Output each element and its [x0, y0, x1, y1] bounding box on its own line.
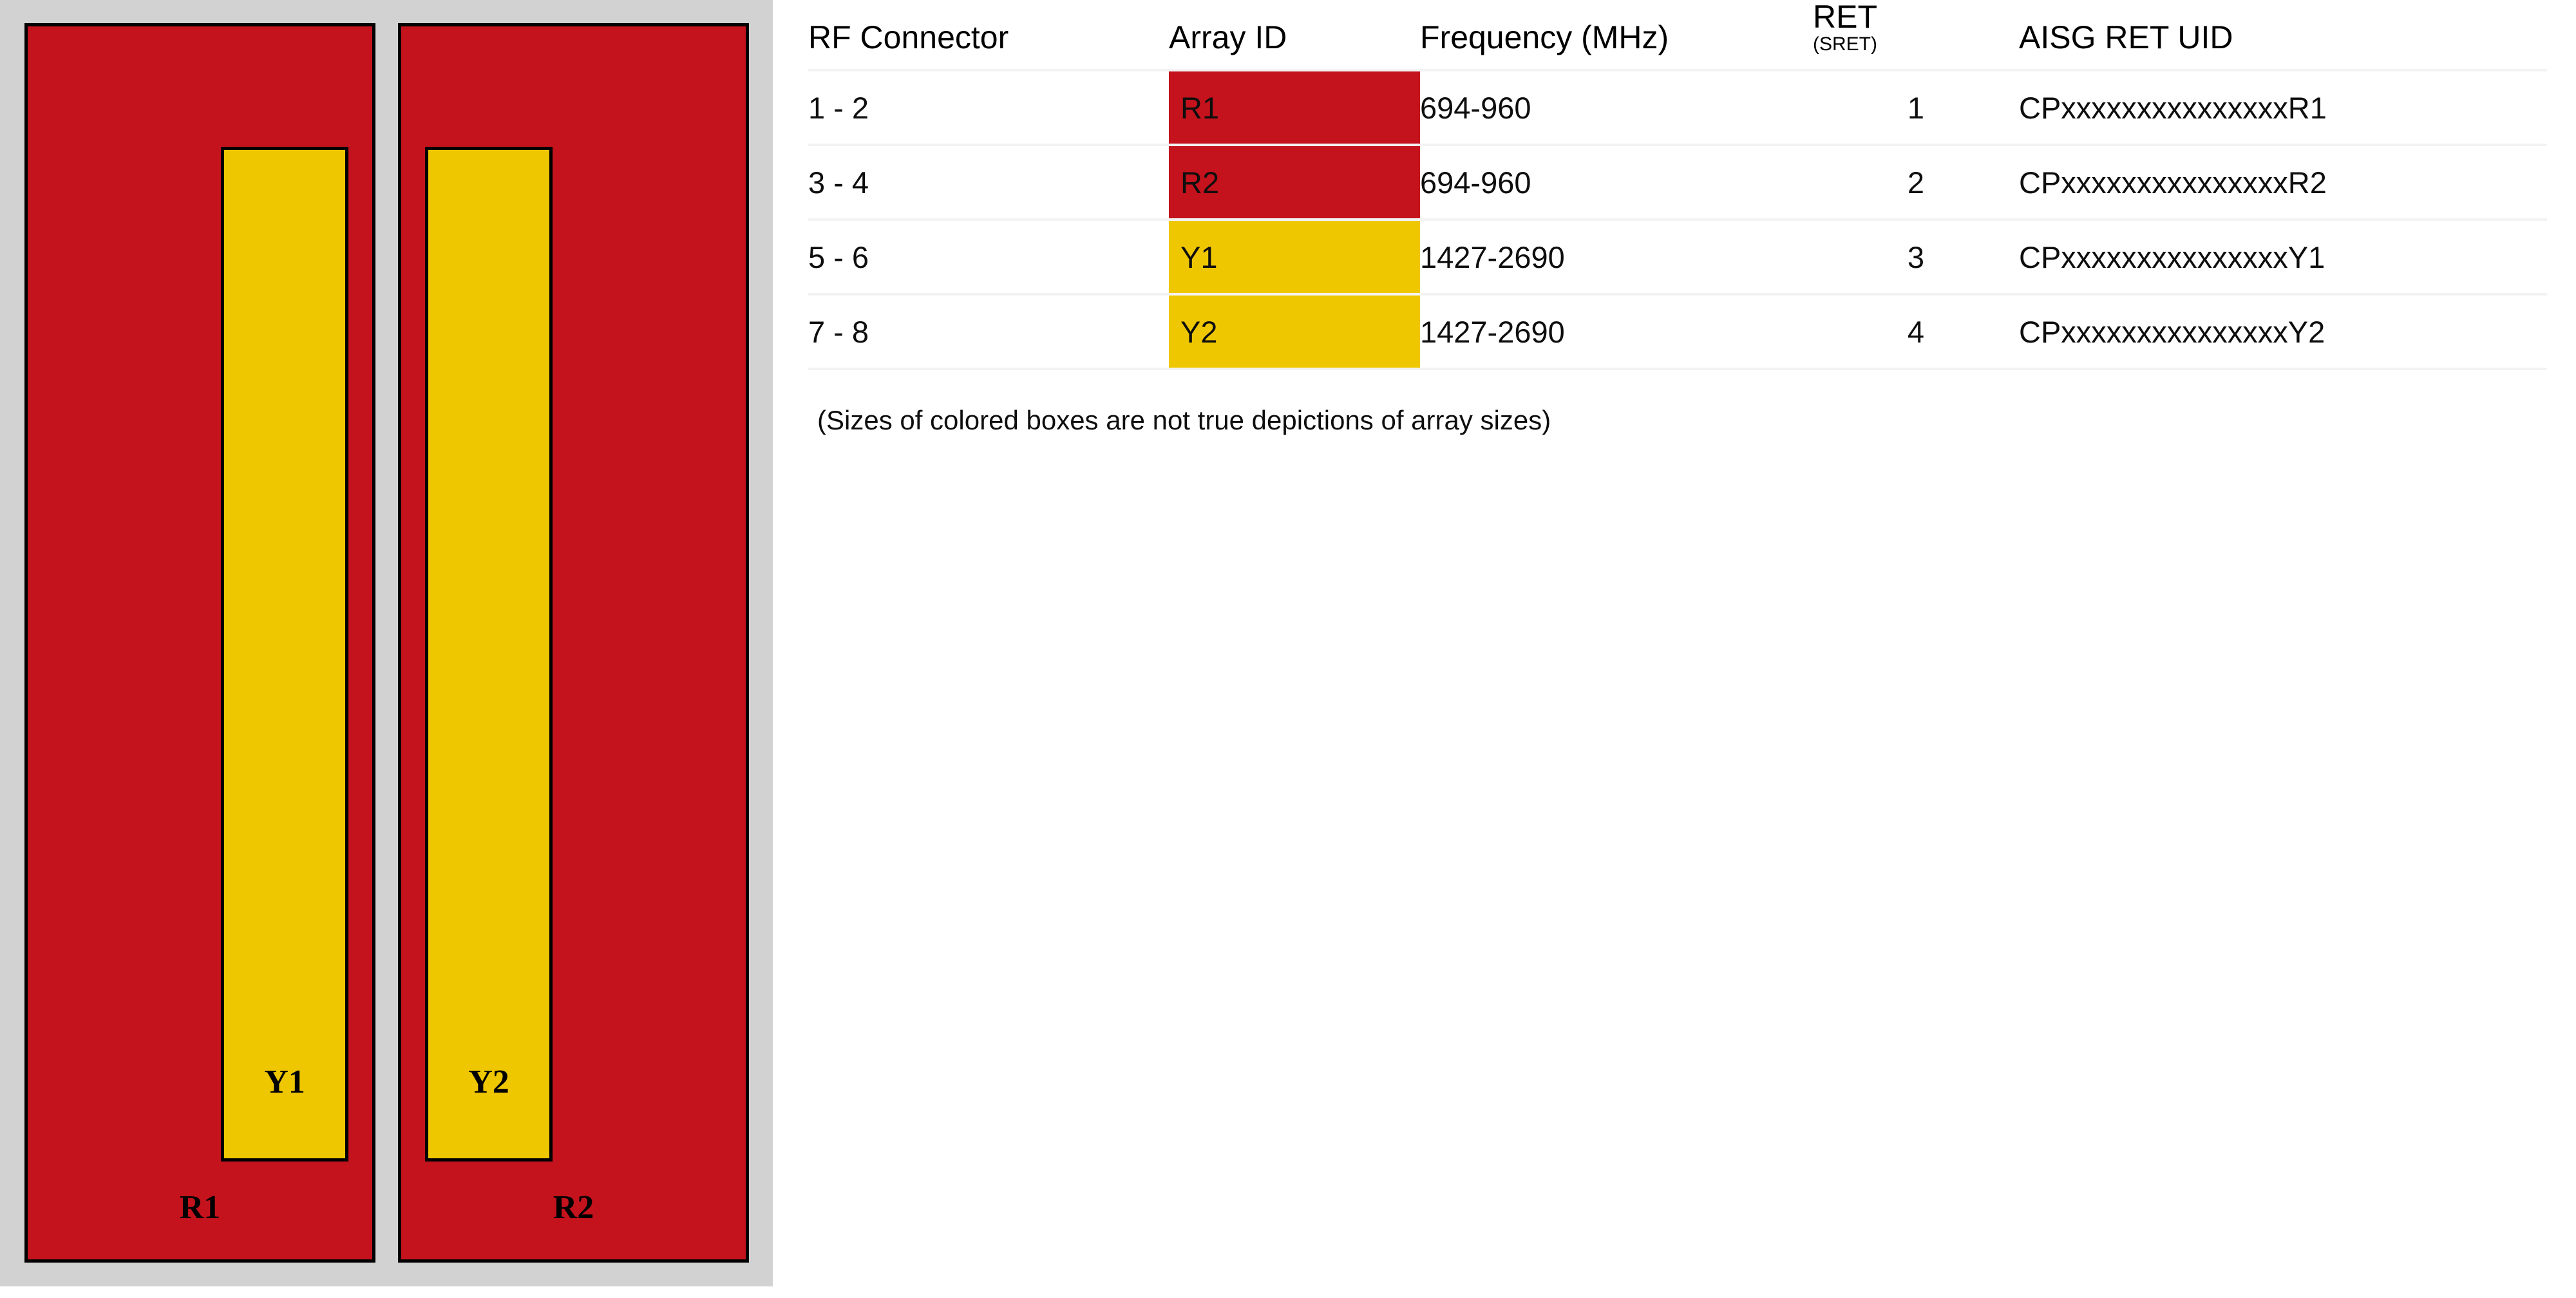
- array-label-r1: R1: [24, 1191, 375, 1225]
- cell-aisg-ret-uid: CPxxxxxxxxxxxxxxxR1: [2019, 70, 2547, 145]
- cell-frequency: 694-960: [1420, 145, 1813, 220]
- array-id-chip: Y2: [1169, 296, 1420, 368]
- array-label-y1: Y1: [221, 1066, 348, 1099]
- cell-ret: 3: [1813, 220, 2019, 294]
- cell-rf-connector: 7 - 8: [808, 294, 1169, 369]
- table-row: 1 - 2 R1 694-960 1 CPxxxxxxxxxxxxxxxR1: [808, 70, 2547, 145]
- cell-frequency: 694-960: [1420, 70, 1813, 145]
- cell-frequency: 1427-2690: [1420, 294, 1813, 369]
- cell-ret: 2: [1813, 145, 2019, 220]
- cell-frequency: 1427-2690: [1420, 220, 1813, 294]
- table-header-row: RF Connector Array ID Frequency (MHz) RE…: [808, 0, 2547, 70]
- cell-aisg-ret-uid: CPxxxxxxxxxxxxxxxR2: [2019, 145, 2547, 220]
- array-id-chip: Y1: [1169, 221, 1420, 293]
- column-header-frequency: Frequency (MHz): [1420, 0, 1813, 70]
- cell-rf-connector: 1 - 2: [808, 70, 1169, 145]
- table-row: 5 - 6 Y1 1427-2690 3 CPxxxxxxxxxxxxxxxY1: [808, 220, 2547, 294]
- array-box-y1: [221, 147, 348, 1162]
- cell-aisg-ret-uid: CPxxxxxxxxxxxxxxxY1: [2019, 220, 2547, 294]
- cell-rf-connector: 5 - 6: [808, 220, 1169, 294]
- cell-aisg-ret-uid: CPxxxxxxxxxxxxxxxY2: [2019, 294, 2547, 369]
- column-header-ret-sub: (SRET): [1813, 33, 2019, 55]
- column-header-aisg-ret-uid: AISG RET UID: [2019, 0, 2547, 70]
- column-header-rf-connector: RF Connector: [808, 0, 1169, 70]
- array-label-r2: R2: [398, 1191, 749, 1225]
- column-header-array-id: Array ID: [1169, 0, 1420, 70]
- antenna-array-diagram: Y1 Y2 R1 R2: [0, 0, 773, 1286]
- table-row: 3 - 4 R2 694-960 2 CPxxxxxxxxxxxxxxxR2: [808, 145, 2547, 220]
- cell-array-id: R2: [1169, 145, 1420, 220]
- array-box-y2: [425, 147, 553, 1162]
- cell-array-id: Y2: [1169, 294, 1420, 369]
- cell-ret: 4: [1813, 294, 2019, 369]
- array-id-chip: R2: [1169, 146, 1420, 218]
- array-id-chip: R1: [1169, 71, 1420, 144]
- column-header-ret: RET (SRET): [1813, 0, 2019, 70]
- array-configuration-table-area: RF Connector Array ID Frequency (MHz) RE…: [808, 0, 2576, 1298]
- antenna-array-configuration-screen: Y1 Y2 R1 R2 RF Connector Array ID Freque…: [0, 0, 2576, 1298]
- array-configuration-table: RF Connector Array ID Frequency (MHz) RE…: [808, 0, 2547, 370]
- cell-array-id: R1: [1169, 70, 1420, 145]
- column-header-ret-main: RET: [1813, 0, 2019, 33]
- table-row: 7 - 8 Y2 1427-2690 4 CPxxxxxxxxxxxxxxxY2: [808, 294, 2547, 369]
- table-footnote: (Sizes of colored boxes are not true dep…: [808, 405, 2576, 436]
- cell-rf-connector: 3 - 4: [808, 145, 1169, 220]
- cell-array-id: Y1: [1169, 220, 1420, 294]
- array-label-y2: Y2: [425, 1066, 553, 1099]
- cell-ret: 1: [1813, 70, 2019, 145]
